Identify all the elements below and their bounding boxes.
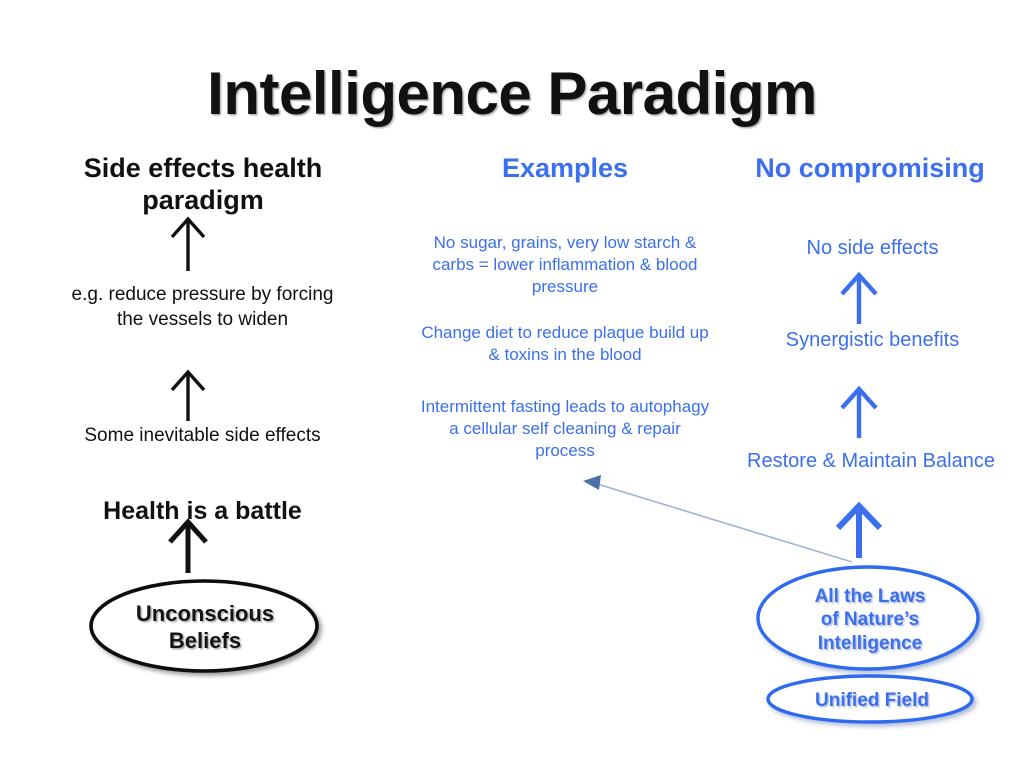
node-intermittent-fasting: Intermittent fasting leads to autophagy …	[420, 396, 710, 462]
arrow-to-no-side-effects-icon	[838, 270, 880, 326]
column-heading-left: Side effects health paradigm	[38, 153, 368, 217]
arrow-to-reduce-pressure-icon	[168, 368, 208, 423]
ellipse-unconscious-beliefs[interactable]: Unconscious Beliefs	[88, 578, 322, 678]
ellipse-unconscious-beliefs-shape	[88, 578, 322, 678]
arrow-to-side-effects-paradigm-icon	[168, 215, 208, 273]
arrow-to-restore-maintain-balance-icon	[834, 500, 884, 560]
ellipse-all-the-laws-shape	[756, 564, 984, 676]
node-synergistic-benefits: Synergistic benefits	[730, 327, 1015, 353]
node-no-sugar-grains: No sugar, grains, very low starch & carb…	[420, 232, 710, 298]
ellipse-all-the-laws-of-natures-intelligence[interactable]: All the Laws of Nature’s Intelligence	[756, 564, 984, 676]
page-title: Intelligence Paradigm	[0, 62, 1024, 125]
node-change-diet: Change diet to reduce plaque build up & …	[420, 322, 710, 366]
arrow-to-health-is-a-battle-icon	[166, 517, 210, 575]
column-heading-examples: Examples	[420, 153, 710, 185]
ellipse-unified-field[interactable]: Unified Field	[766, 674, 978, 728]
node-no-side-effects: No side effects	[730, 235, 1015, 261]
node-reduce-pressure: e.g. reduce pressure by forcing the vess…	[60, 283, 345, 332]
slide-canvas: Intelligence Paradigm Side effects healt…	[0, 0, 1024, 768]
arrow-laws-to-examples-icon	[570, 465, 870, 575]
node-restore-maintain-balance: Restore & Maintain Balance	[715, 448, 1024, 474]
ellipse-unified-field-shape	[766, 674, 978, 728]
arrow-to-synergistic-benefits-icon	[838, 384, 880, 440]
node-some-inevitable-side-effects: Some inevitable side effects	[60, 424, 345, 449]
column-heading-no-compromising: No compromising	[715, 153, 1024, 185]
